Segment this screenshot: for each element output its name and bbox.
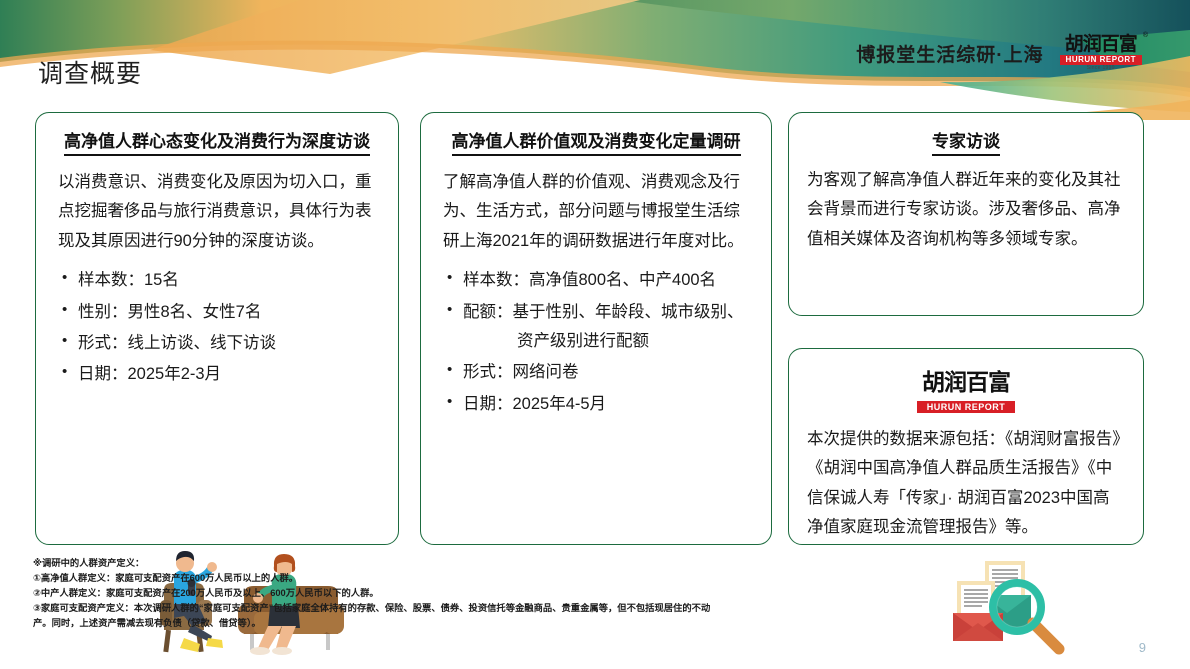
list-item: 样本数：高净值800名、中产400名 (447, 266, 753, 295)
card-expert: 专家访谈 为客观了解高净值人群近年来的变化及其社会背景而进行专家访谈。涉及奢侈品… (788, 112, 1144, 316)
registered-trademark-icon: ® (1143, 32, 1148, 39)
list-item: 形式：线上访谈、线下访谈 (62, 329, 380, 358)
card-quant-title-wrap: 高净值人群价值观及消费变化定量调研 (435, 131, 757, 156)
list-item: 性别：男性8名、女性7名 (62, 298, 380, 327)
bullet-text: 日期：2025年4-5月 (463, 395, 606, 413)
bullet-text: 性别：男性8名、女性7名 (78, 303, 261, 321)
hurun-logo-since: Since 1999 (1087, 66, 1115, 71)
hurun-logo-english: HURUN REPORT (917, 401, 1016, 413)
hurun-report-logo: ® 胡润百富 HURUN REPORT Since 1999 (1060, 35, 1142, 71)
footnote-line: ②中产人群定义：家庭可支配资产在200万人民币及以上、600万人民币以下的人群。 (33, 586, 713, 601)
card-expert-title-wrap: 专家访谈 (803, 131, 1129, 156)
hurun-logo-chinese: 胡润百富 (1065, 35, 1137, 54)
list-item: 形式：网络问卷 (447, 358, 753, 387)
card-quant-title: 高净值人群价值观及消费变化定量调研 (452, 131, 741, 156)
card-quant-body: 了解高净值人群的价值观、消费观念及行为、生活方式，部分问题与博报堂生活综研上海2… (443, 168, 749, 256)
footnote-line: ①高净值人群定义：家庭可支配资产在600万人民币以上的人群。 (33, 571, 713, 586)
card-interview-bullets: 样本数：15名 性别：男性8名、女性7名 形式：线上访谈、线下访谈 日期：202… (36, 266, 398, 389)
page-number: 9 (1139, 640, 1146, 655)
footnote: ※调研中的人群资产定义： ①高净值人群定义：家庭可支配资产在600万人民币以上的… (33, 556, 713, 631)
card-expert-title: 专家访谈 (932, 131, 1000, 156)
bullet-text-continuation: 资产级别进行配额 (463, 327, 753, 356)
card-interview-title-wrap: 高净值人群心态变化及消费行为深度访谈 (50, 131, 384, 156)
card-interview-body: 以消费意识、消费变化及原因为切入口，重点挖掘奢侈品与旅行消费意识，具体行为表现及… (58, 168, 376, 256)
bullet-text: 形式：网络问卷 (463, 363, 579, 381)
hurun-logo-english: HURUN REPORT (1060, 55, 1142, 65)
card-interview: 高净值人群心态变化及消费行为深度访谈 以消费意识、消费变化及原因为切入口，重点挖… (35, 112, 399, 545)
card-source-logo: 胡润百富 HURUN REPORT (789, 363, 1143, 415)
footnote-line: ※调研中的人群资产定义： (33, 556, 713, 571)
list-item: 样本数：15名 (62, 266, 380, 295)
hurun-logo-chinese: 胡润百富 (789, 363, 1143, 397)
card-source-body: 本次提供的数据来源包括：《胡润财富报告》《胡润中国高净值人群品质生活报告》《中信… (807, 425, 1125, 542)
list-item: 配额：基于性别、年龄段、城市级别、 资产级别进行配额 (447, 298, 753, 357)
document-search-illustration (941, 555, 1073, 655)
bullet-text: 形式：线上访谈、线下访谈 (78, 334, 276, 352)
slide-canvas: 博报堂生活综研·上海 ® 胡润百富 HURUN REPORT Since 199… (0, 0, 1190, 669)
card-interview-title: 高净值人群心态变化及消费行为深度访谈 (64, 131, 370, 156)
footnote-line: ③家庭可支配资产定义：本次调研人群的“家庭可支配资产”包括家庭全体持有的存款、保… (33, 601, 713, 631)
header-brand-text: 博报堂生活综研·上海 (856, 40, 1043, 67)
header-brand: 博报堂生活综研·上海 ® 胡润百富 HURUN REPORT Since 199… (856, 36, 1142, 70)
list-item: 日期：2025年2-3月 (62, 360, 380, 389)
card-source: 胡润百富 HURUN REPORT 本次提供的数据来源包括：《胡润财富报告》《胡… (788, 348, 1144, 545)
card-expert-body: 为客观了解高净值人群近年来的变化及其社会背景而进行专家访谈。涉及奢侈品、高净值相… (807, 166, 1125, 254)
card-quant: 高净值人群价值观及消费变化定量调研 了解高净值人群的价值观、消费观念及行为、生活… (420, 112, 772, 545)
bullet-text: 样本数：高净值800名、中产400名 (463, 271, 716, 289)
card-quant-bullets: 样本数：高净值800名、中产400名 配额：基于性别、年龄段、城市级别、 资产级… (421, 266, 771, 419)
page-title: 调查概要 (38, 54, 142, 90)
list-item: 日期：2025年4-5月 (447, 390, 753, 419)
bullet-text: 配额：基于性别、年龄段、城市级别、 (463, 303, 744, 321)
bullet-text: 样本数：15名 (78, 271, 179, 289)
bullet-text: 日期：2025年2-3月 (78, 365, 221, 383)
